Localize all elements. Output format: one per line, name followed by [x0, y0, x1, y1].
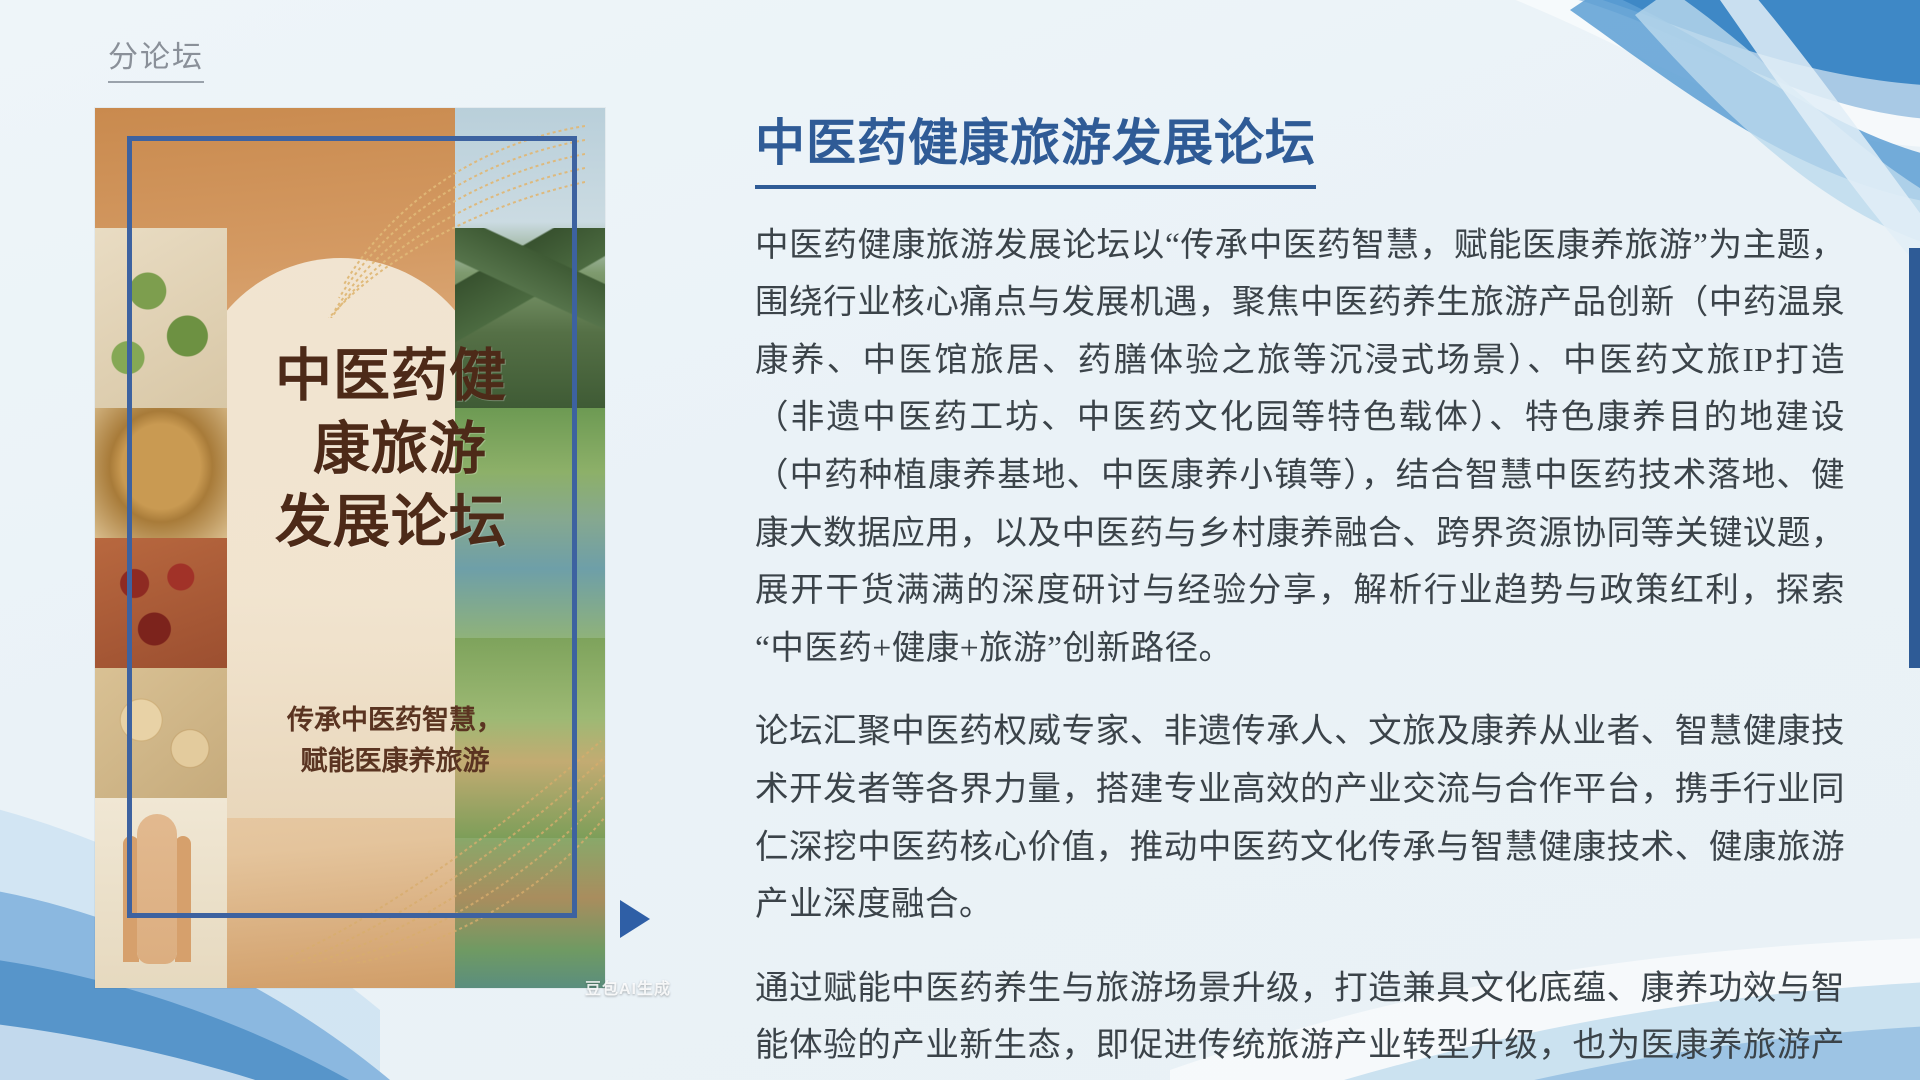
ai-watermark: 豆包AI生成	[585, 975, 671, 999]
poster-headline-line-2: 康旅游	[259, 413, 541, 486]
poster-tagline-line-2: 赋能医康养旅游	[245, 741, 545, 782]
poster-headline-line-1: 中医药健	[241, 340, 541, 413]
poster-tagline-line-1: 传承中医药智慧，	[245, 700, 545, 741]
forum-poster[interactable]: 中医药健 康旅游 发展论坛 传承中医药智慧， 赋能医康养旅游	[95, 108, 605, 988]
body-paragraph-1: 中医药健康旅游发展论坛以“传承中医药智慧，赋能医康养旅游”为主题，围绕行业核心痛…	[755, 217, 1845, 678]
page-title: 中医药健康旅游发展论坛	[755, 112, 1316, 189]
poster-headline: 中医药健 康旅游 发展论坛	[241, 340, 541, 559]
content-body: 中医药健康旅游发展论坛以“传承中医药智慧，赋能医康养旅游”为主题，围绕行业核心痛…	[755, 217, 1845, 1080]
section-label: 分论坛	[108, 40, 204, 83]
poster-headline-line-3: 发展论坛	[241, 486, 541, 559]
play-triangle-icon[interactable]	[620, 900, 650, 938]
right-edge-accent-bar	[1909, 248, 1920, 668]
poster-tagline: 传承中医药智慧， 赋能医康养旅游	[245, 700, 545, 781]
body-paragraph-3: 通过赋能中医药养生与旅游场景升级，打造兼具文化底蕴、康养功效与智能体验的产业新生…	[755, 960, 1845, 1080]
content-column: 中医药健康旅游发展论坛 中医药健康旅游发展论坛以“传承中医药智慧，赋能医康养旅游…	[755, 112, 1845, 1080]
slide-root: 分论坛	[0, 0, 1920, 1080]
body-paragraph-2: 论坛汇聚中医药权威专家、非遗传承人、文旅及康养从业者、智慧健康技术开发者等各界力…	[755, 703, 1845, 933]
